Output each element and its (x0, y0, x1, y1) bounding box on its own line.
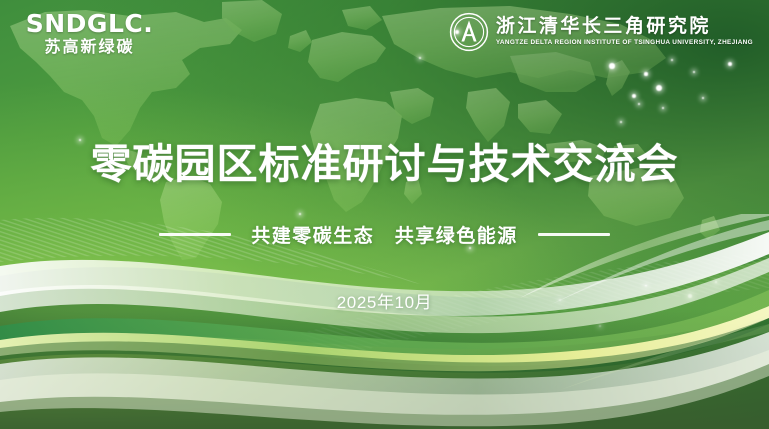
title-block: 零碳园区标准研讨与技术交流会 共建零碳生态 共享绿色能源 2025年10月 (0, 140, 769, 313)
rule-right (538, 233, 610, 236)
sparkle-particle (702, 97, 704, 99)
sparkle-particle (620, 121, 622, 123)
sparkle-particle (609, 63, 614, 68)
page-title: 零碳园区标准研讨与技术交流会 (0, 140, 769, 188)
tsinghua-institute-logo: 浙江清华长三角研究院 YANGTZE DELTA REGION INSTITUT… (449, 12, 753, 52)
sparkle-particle (599, 325, 601, 327)
sparkle-particle (638, 103, 640, 105)
institute-name-en: YANGTZE DELTA REGION INSTITUTE OF TSINGH… (496, 40, 753, 46)
sparkle-particle (419, 57, 421, 59)
event-date: 2025年10月 (0, 288, 769, 313)
subtitle-row: 共建零碳生态 共享绿色能源 (0, 221, 769, 248)
sparkle-particle (671, 59, 674, 62)
sparkle-particle (632, 94, 636, 98)
tsinghua-institute-emblem-icon (449, 12, 489, 52)
sndglc-wordmark: SNDGLC. (22, 11, 157, 36)
sparkle-particle (728, 62, 732, 66)
sparkle-particle (693, 71, 696, 74)
presentation-slide: SNDGLC. 苏高新绿碳 浙江清华长三角研究院 YANGTZE DELTA R… (0, 0, 769, 429)
bottom-shade (0, 309, 769, 429)
sndglc-logo: SNDGLC. 苏高新绿碳 (22, 11, 157, 56)
institute-name-cn: 浙江清华长三角研究院 (496, 17, 753, 36)
sparkle-particle (662, 107, 664, 109)
sparkle-particle (656, 85, 662, 91)
sndglc-chinese-name: 苏高新绿碳 (22, 40, 157, 56)
rule-left (159, 233, 231, 236)
sparkle-particle (644, 72, 647, 75)
subtitle-text: 共建零碳生态 共享绿色能源 (251, 221, 518, 248)
